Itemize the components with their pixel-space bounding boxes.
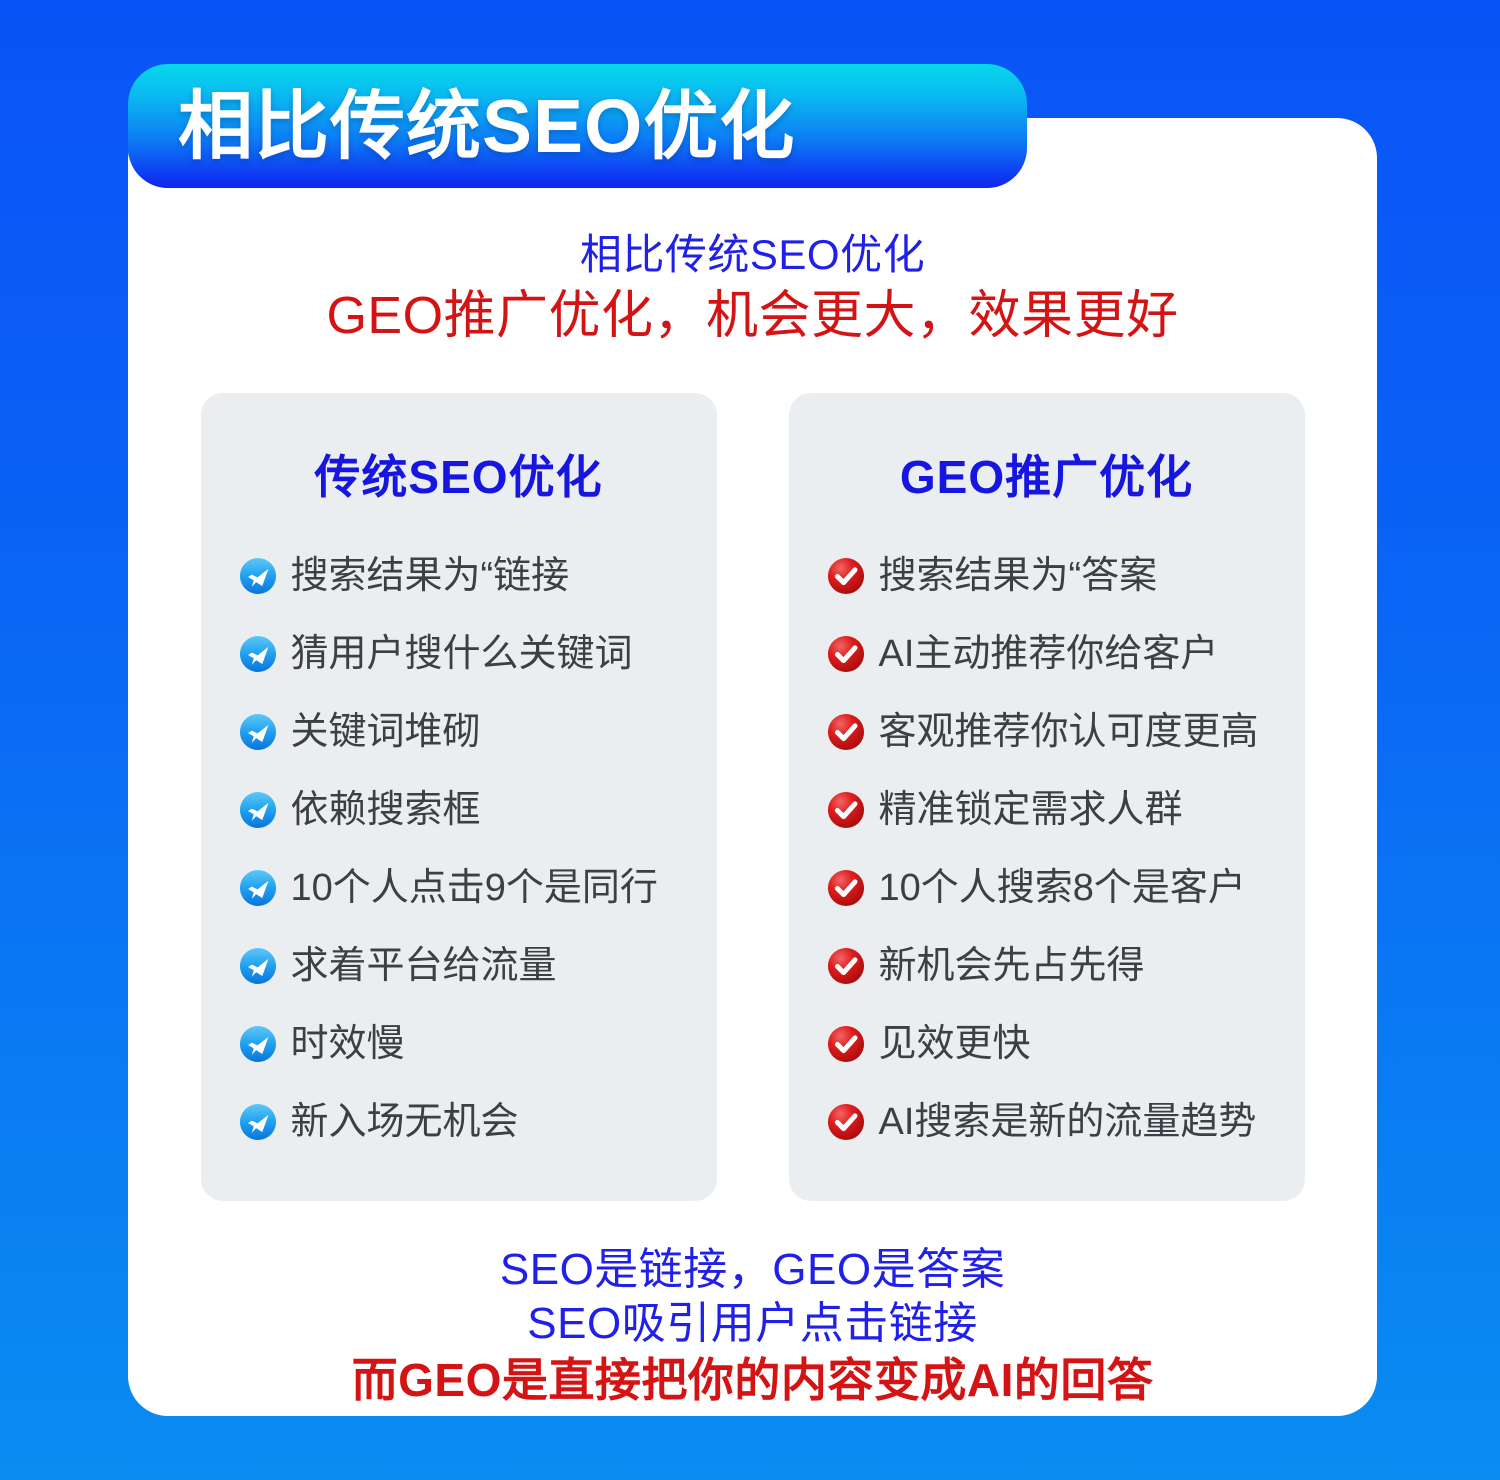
blue-plane-icon (239, 791, 277, 829)
list-item-label: 10个人搜索8个是客户 (879, 869, 1246, 907)
list-item-label: 依赖搜索框 (291, 791, 481, 829)
panel-title-geo-promotion: GEO推广优化 (789, 441, 1305, 507)
list-item: 猜用户搜什么关键词 (239, 615, 703, 693)
blue-plane-icon (239, 635, 277, 673)
list-item: 新入场无机会 (239, 1083, 703, 1161)
subtitle-line-2: GEO推广优化，机会更大，效果更好 (128, 286, 1377, 347)
list-item-label: 10个人点击9个是同行 (291, 869, 658, 907)
list-item-label: 新机会先占先得 (879, 947, 1145, 985)
footer-line-1: SEO是链接，GEO是答案 (128, 1243, 1377, 1298)
panel-traditional-seo: 传统SEO优化 搜索结果为“链接 (201, 393, 717, 1201)
list-traditional-seo: 搜索结果为“链接 猜用户搜什么关键词 关键词堆砌 (201, 537, 717, 1161)
comparison-columns: 传统SEO优化 搜索结果为“链接 (128, 393, 1377, 1201)
red-check-icon (827, 947, 865, 985)
list-item: 新机会先占先得 (827, 927, 1291, 1005)
footer-block: SEO是链接，GEO是答案 SEO吸引用户点击链接 而GEO是直接把你的内容变成… (128, 1243, 1377, 1409)
list-item: 依赖搜索框 (239, 771, 703, 849)
list-geo-promotion: 搜索结果为“答案 AI主动推荐你给客户 客观推荐你认可度更高 (789, 537, 1305, 1161)
panel-geo-promotion: GEO推广优化 搜索结果为“答案 (789, 393, 1305, 1201)
list-item-label: 搜索结果为“链接 (291, 557, 570, 595)
list-item: 精准锁定需求人群 (827, 771, 1291, 849)
blue-plane-icon (239, 947, 277, 985)
blue-plane-icon (239, 1025, 277, 1063)
panel-title-traditional-seo: 传统SEO优化 (201, 441, 717, 507)
list-item: 搜索结果为“答案 (827, 537, 1291, 615)
list-item-label: 新入场无机会 (291, 1103, 519, 1141)
list-item: 客观推荐你认可度更高 (827, 693, 1291, 771)
footer-line-2: SEO吸引用户点击链接 (128, 1297, 1377, 1352)
list-item: 10个人搜索8个是客户 (827, 849, 1291, 927)
list-item-label: 见效更快 (879, 1025, 1031, 1063)
subtitle-block: 相比传统SEO优化 GEO推广优化，机会更大，效果更好 (128, 230, 1377, 347)
page-title: 相比传统SEO优化 (178, 89, 795, 164)
subtitle-line-1: 相比传统SEO优化 (128, 230, 1377, 280)
blue-plane-icon (239, 1103, 277, 1141)
header-banner: 相比传统SEO优化 (128, 64, 1027, 188)
red-check-icon (827, 557, 865, 595)
list-item-label: AI搜索是新的流量趋势 (879, 1103, 1257, 1141)
red-check-icon (827, 869, 865, 907)
list-item: AI主动推荐你给客户 (827, 615, 1291, 693)
card-content: 相比传统SEO优化 GEO推广优化，机会更大，效果更好 传统SEO优化 (128, 118, 1377, 1416)
list-item: 10个人点击9个是同行 (239, 849, 703, 927)
blue-plane-icon (239, 713, 277, 751)
list-item-label: 客观推荐你认可度更高 (879, 713, 1259, 751)
list-item: 见效更快 (827, 1005, 1291, 1083)
list-item-label: 精准锁定需求人群 (879, 791, 1183, 829)
list-item: 时效慢 (239, 1005, 703, 1083)
red-check-icon (827, 1103, 865, 1141)
list-item: 关键词堆砌 (239, 693, 703, 771)
blue-plane-icon (239, 869, 277, 907)
list-item: 求着平台给流量 (239, 927, 703, 1005)
list-item-label: 求着平台给流量 (291, 947, 557, 985)
list-item-label: 猜用户搜什么关键词 (291, 635, 633, 673)
red-check-icon (827, 791, 865, 829)
red-check-icon (827, 1025, 865, 1063)
list-item-label: 搜索结果为“答案 (879, 557, 1158, 595)
blue-plane-icon (239, 557, 277, 595)
red-check-icon (827, 635, 865, 673)
list-item-label: 时效慢 (291, 1025, 405, 1063)
list-item-label: 关键词堆砌 (291, 713, 481, 751)
red-check-icon (827, 713, 865, 751)
list-item: AI搜索是新的流量趋势 (827, 1083, 1291, 1161)
list-item: 搜索结果为“链接 (239, 537, 703, 615)
list-item-label: AI主动推荐你给客户 (879, 635, 1219, 673)
footer-line-3: 而GEO是直接把你的内容变成AI的回答 (128, 1352, 1377, 1409)
